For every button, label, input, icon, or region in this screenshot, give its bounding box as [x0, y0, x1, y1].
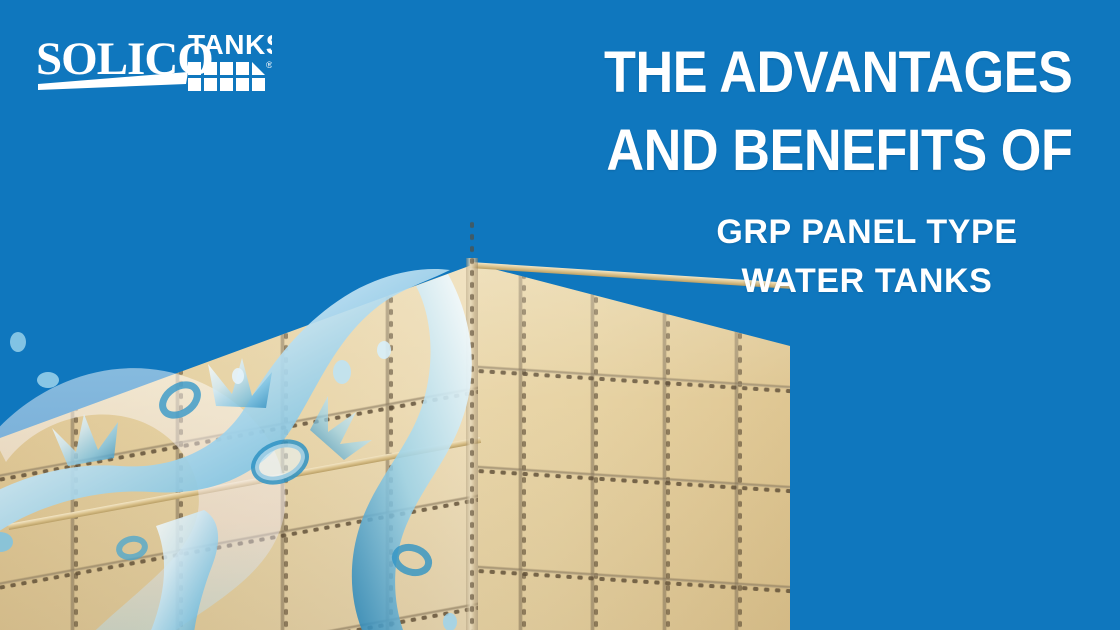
headline-block: THE ADVANTAGES AND BENEFITS OF	[552, 34, 1072, 190]
headline-line-2: AND BENEFITS OF	[604, 112, 1072, 190]
headline-line-1: THE ADVANTAGES	[604, 34, 1072, 112]
banner-canvas: SOLICO TANKS	[0, 0, 1120, 630]
subheadline-line-2: WATER TANKS	[702, 257, 1032, 306]
tank-face-right	[470, 250, 790, 630]
subheadline-line-1: GRP PANEL TYPE	[702, 208, 1032, 257]
solico-tanks-logo[interactable]: SOLICO TANKS	[36, 26, 272, 106]
registered-mark: ®	[266, 60, 272, 70]
subheadline-block: GRP PANEL TYPE WATER TANKS	[702, 208, 1032, 306]
tank-corner-post	[466, 258, 478, 630]
tank-face-left	[0, 250, 478, 630]
logo-secondary-text: TANKS	[188, 29, 272, 60]
